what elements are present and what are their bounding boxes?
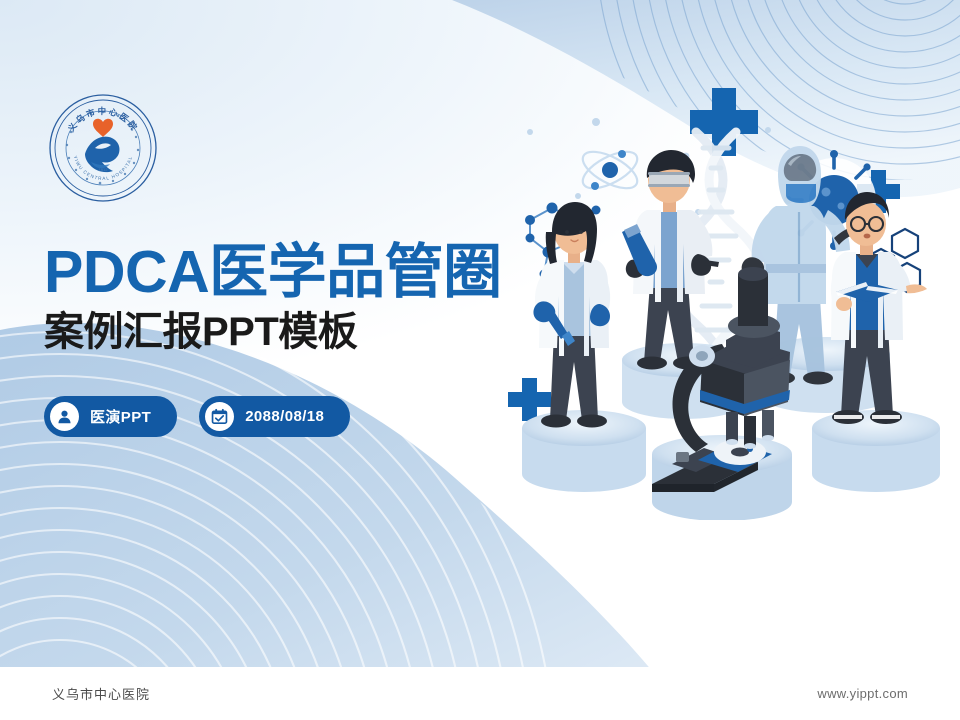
footer-organization: 义乌市中心医院 [52,684,150,703]
page-title: PDCA医学品管圈 [44,242,564,304]
slide-footer: 义乌市中心医院 www.yippt.com [0,667,960,720]
person-icon [50,402,79,431]
author-pill[interactable]: 医演PPT [44,396,177,437]
meta-pill-group: 医演PPT 2088/08/18 [44,396,350,437]
date-pill-label: 2088/08/18 [245,408,324,425]
page-subtitle: 案例汇报PPT模板 [44,310,564,355]
date-pill[interactable]: 2088/08/18 [199,396,350,437]
medical-research-team-illustration [500,60,960,520]
calendar-icon [205,402,234,431]
footer-website: www.yippt.com [817,686,908,701]
author-pill-label: 医演PPT [90,406,151,427]
title-block: PDCA医学品管圈 案例汇报PPT模板 [44,242,564,355]
logo-year: 1912 [99,167,109,172]
hospital-logo-icon: 义乌市中心医院 YIWU CENTRAL HOSPITAL 1912 [47,92,159,204]
presentation-slide: 义乌市中心医院 YIWU CENTRAL HOSPITAL 1912 PDCA医… [0,0,960,720]
hospital-logo: 义乌市中心医院 YIWU CENTRAL HOSPITAL 1912 [47,92,159,184]
molecule-structure-upper [577,144,642,195]
